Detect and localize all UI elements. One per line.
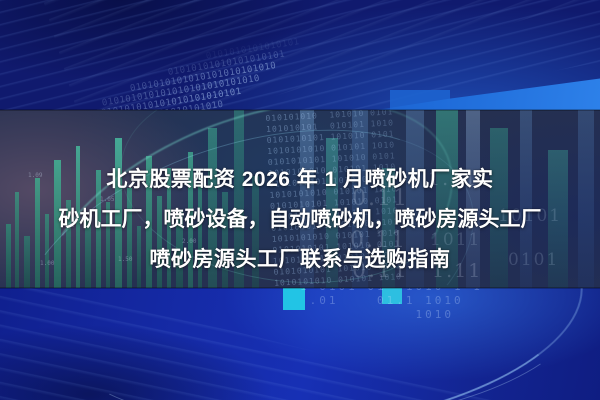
headline-line-2: 砂机工厂，喷砂设备，自动喷砂机，喷砂房源头工厂 [0,200,600,240]
band-seam-lower [0,287,600,289]
headline-line-1: 北京股票配资 2026 年 1 月喷砂机厂家实 [0,160,600,200]
headline-line-3: 喷砂房源头工厂联系与选购指南 [0,240,600,280]
banner-headline: 北京股票配资 2026 年 1 月喷砂机厂家实 砂机工厂，喷砂设备，自动喷砂机，… [0,160,600,280]
top-navy-band: 0101010101010101 01010101010101010101 01… [0,0,600,110]
stock-finance-banner: 0101010101010101 01010101010101010101 01… [0,0,600,400]
band-seam-upper [0,109,600,111]
bottom-blue-band: 1 0101 01 1010 1 1 .01 01.1 1010 1010 [0,288,600,400]
